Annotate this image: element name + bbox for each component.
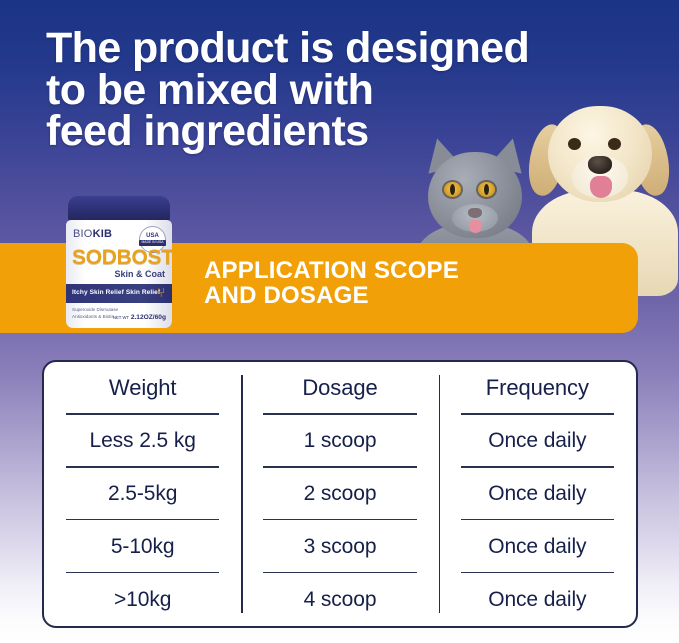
product-claim-text: Itchy Skin Relief Skin Relief <box>72 289 160 296</box>
dog-tongue <box>590 176 612 198</box>
table-cell-dosage-2: 2 scoop <box>241 468 438 521</box>
table-cell-dosage-4: 4 scoop <box>241 573 438 626</box>
column-header-dosage: Dosage <box>241 362 438 415</box>
table-cell-dosage-1: 1 scoop <box>241 415 438 468</box>
banner-title: APPLICATION SCOPE AND DOSAGE <box>204 258 534 309</box>
product-ingredients: Superoxide Dismutase Antioxidants & Biot… <box>72 307 118 321</box>
cat-eye-left <box>444 182 461 197</box>
table-cell-frequency-2: Once daily <box>439 468 636 521</box>
table-cell-weight-4: >10kg <box>44 573 241 626</box>
product-name: SODBOST <box>72 246 172 270</box>
product-claim-strip: Itchy Skin Relief Skin Relief ⑂ <box>66 284 172 303</box>
table-cell-frequency-4: Once daily <box>439 573 636 626</box>
cat-tongue <box>469 220 482 233</box>
infographic-page: The product is designed to be mixed with… <box>0 0 679 643</box>
table-cell-weight-1: Less 2.5 kg <box>44 415 241 468</box>
dosage-column-frequency: Frequency Once daily Once daily Once dai… <box>439 362 636 626</box>
usa-badge-bottom-text: MADE IN USA <box>139 240 165 245</box>
dosage-table: Weight Less 2.5 kg 2.5-5kg 5-10kg >10kg … <box>42 360 638 628</box>
brand-prefix: BIO <box>73 228 93 240</box>
brand-suffix: KIB <box>93 228 113 240</box>
dosage-table-grid: Weight Less 2.5 kg 2.5-5kg 5-10kg >10kg … <box>44 362 636 626</box>
product-jar: BIOKIB USA MADE IN USA SODBOST Skin & Co… <box>66 196 172 328</box>
column-header-weight: Weight <box>44 362 241 415</box>
jar-label: BIOKIB USA MADE IN USA SODBOST Skin & Co… <box>66 220 172 328</box>
dosage-column-weight: Weight Less 2.5 kg 2.5-5kg 5-10kg >10kg <box>44 362 241 626</box>
product-subtitle: Skin & Coat <box>114 269 165 279</box>
dog-eye-left <box>568 138 581 150</box>
table-cell-dosage-3: 3 scoop <box>241 520 438 573</box>
paw-emblem-icon: ⑂ <box>157 286 165 299</box>
table-cell-weight-3: 5-10kg <box>44 520 241 573</box>
jar-lid <box>68 196 170 222</box>
net-weight-label: NET WT <box>113 315 129 320</box>
table-cell-weight-2: 2.5-5kg <box>44 468 241 521</box>
table-cell-frequency-3: Once daily <box>439 520 636 573</box>
usa-badge-top-text: USA <box>146 233 159 239</box>
dosage-column-dosage: Dosage 1 scoop 2 scoop 3 scoop 4 scoop <box>241 362 438 626</box>
cat-eye-right <box>478 182 495 197</box>
dog-nose <box>588 156 612 174</box>
column-header-frequency: Frequency <box>439 362 636 415</box>
brand-logo: BIOKIB <box>73 228 112 240</box>
dog-eye-right <box>608 138 621 150</box>
cat-nose <box>468 208 482 218</box>
net-weight-value: 2.12OZ/60g <box>131 314 166 321</box>
product-net-weight: NET WT 2.12OZ/60g <box>113 314 166 321</box>
table-cell-frequency-1: Once daily <box>439 415 636 468</box>
